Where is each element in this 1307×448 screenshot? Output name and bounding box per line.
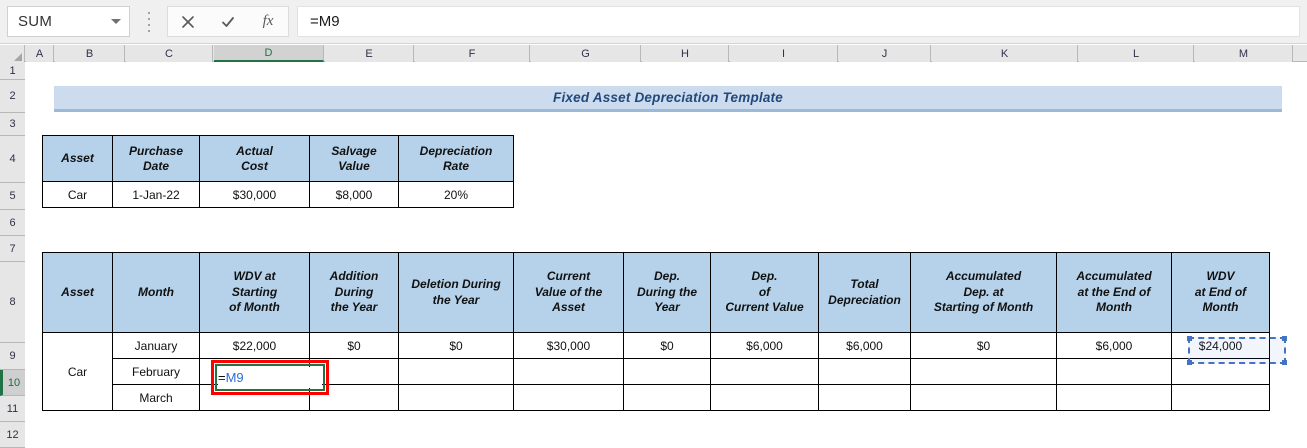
cell-salvage-value[interactable]: $8,000 <box>310 182 399 208</box>
cell-addition[interactable]: $0 <box>310 333 399 359</box>
row-header-11[interactable]: 11 <box>0 396 25 422</box>
formula-bar: SUM fx =M9 <box>0 0 1307 44</box>
row-header-5[interactable]: 5 <box>0 183 25 210</box>
cell-depreciation-rate[interactable]: 20% <box>399 182 514 208</box>
header-month: Month <box>113 253 200 333</box>
cell-dep-of-current-value[interactable] <box>711 359 819 385</box>
table-row: Car 1-Jan-22 $30,000 $8,000 20% <box>43 182 514 208</box>
spreadsheet-grid[interactable]: Fixed Asset Depreciation Template exceld… <box>26 62 1307 434</box>
asset-summary-table: Asset Purchase Date Actual Cost Salvage … <box>42 135 514 208</box>
template-title-banner: Fixed Asset Depreciation Template <box>54 86 1282 112</box>
header-asset: Asset <box>43 136 113 182</box>
header-total-depreciation: Total Depreciation <box>819 253 911 333</box>
cell-current-value[interactable] <box>514 359 624 385</box>
cell-dep-during-year[interactable] <box>624 359 711 385</box>
column-header-row: A B C D E F G H I J K L M <box>0 45 1307 62</box>
row-header-10[interactable]: 10 <box>0 370 25 396</box>
cell-asset-merged[interactable]: Car <box>43 333 113 411</box>
column-header-c[interactable]: C <box>126 45 213 62</box>
header-wdv-at-starting-of-month: WDV at Starting of Month <box>200 253 310 333</box>
cell-wdv-end[interactable] <box>1172 359 1270 385</box>
column-header-f[interactable]: F <box>415 45 530 62</box>
cell-deletion[interactable] <box>399 359 514 385</box>
column-header-g[interactable]: G <box>531 45 641 62</box>
cell-month[interactable]: March <box>113 385 200 411</box>
header-asset: Asset <box>43 253 113 333</box>
table-header-row: Asset Purchase Date Actual Cost Salvage … <box>43 136 514 182</box>
row-header-12[interactable]: 12 <box>0 422 25 448</box>
column-header-k[interactable]: K <box>932 45 1078 62</box>
cell-accum-dep-start[interactable] <box>911 385 1057 411</box>
column-header-b[interactable]: B <box>55 45 125 62</box>
insert-function-fx-icon[interactable]: fx <box>248 7 288 36</box>
row-header-2[interactable]: 2 <box>0 80 25 113</box>
cell-addition[interactable] <box>310 359 399 385</box>
selection-handle-top-right[interactable] <box>1282 336 1287 341</box>
header-dep-during-the-year: Dep. During the Year <box>624 253 711 333</box>
formula-reference-m9: M9 <box>226 370 244 385</box>
row-header-9[interactable]: 9 <box>0 343 25 370</box>
cell-actual-cost[interactable]: $30,000 <box>200 182 310 208</box>
column-header-h[interactable]: H <box>642 45 729 62</box>
formula-equals-sign: = <box>218 370 226 385</box>
cell-accum-dep-start[interactable] <box>911 359 1057 385</box>
row-header-7[interactable]: 7 <box>0 236 25 262</box>
cancel-x-icon[interactable] <box>168 7 208 36</box>
table-header-row: Asset Month WDV at Starting of Month Add… <box>43 253 1270 333</box>
column-header-e[interactable]: E <box>325 45 414 62</box>
cell-accum-end[interactable]: $6,000 <box>1057 333 1172 359</box>
cell-addition[interactable] <box>310 385 399 411</box>
table-row: March <box>43 385 1270 411</box>
cell-total-depreciation[interactable] <box>819 385 911 411</box>
select-all-triangle-icon <box>14 53 22 61</box>
column-header-j[interactable]: J <box>839 45 931 62</box>
row-header-1[interactable]: 1 <box>0 62 25 80</box>
confirm-check-icon[interactable] <box>208 7 248 36</box>
formula-bar-drag-handle[interactable] <box>146 12 151 32</box>
cell-month[interactable]: February <box>113 359 200 385</box>
cell-accum-dep-start[interactable]: $0 <box>911 333 1057 359</box>
column-header-l[interactable]: L <box>1079 45 1194 62</box>
header-addition-during-the-year: Addition During the Year <box>310 253 399 333</box>
header-deletion-during-the-year: Deletion During the Year <box>399 253 514 333</box>
row-header-column: 1 2 3 4 5 6 7 8 9 10 11 12 <box>0 62 25 434</box>
cell-month[interactable]: January <box>113 333 200 359</box>
row-header-8[interactable]: 8 <box>0 262 25 343</box>
chevron-down-icon[interactable] <box>111 19 121 24</box>
cell-wdv-start[interactable]: $22,000 <box>200 333 310 359</box>
cell-total-depreciation[interactable]: $6,000 <box>819 333 911 359</box>
cell-current-value[interactable] <box>514 385 624 411</box>
table-row: Car January $22,000 $0 $0 $30,000 $0 $6,… <box>43 333 1270 359</box>
header-actual-cost: Actual Cost <box>200 136 310 182</box>
header-purchase-date: Purchase Date <box>113 136 200 182</box>
header-accumulated-dep-at-starting-of-month: Accumulated Dep. at Starting of Month <box>911 253 1057 333</box>
cell-deletion[interactable] <box>399 385 514 411</box>
cell-asset[interactable]: Car <box>43 182 113 208</box>
column-header-i[interactable]: I <box>730 45 838 62</box>
header-accumulated-at-the-end-of-month: Accumulated at the End of Month <box>1057 253 1172 333</box>
name-box-value: SUM <box>18 13 111 30</box>
cell-current-value[interactable]: $30,000 <box>514 333 624 359</box>
cell-accum-end[interactable] <box>1057 385 1172 411</box>
header-current-value-of-the-asset: Current Value of the Asset <box>514 253 624 333</box>
cell-dep-during-year[interactable] <box>624 385 711 411</box>
active-cell-editor[interactable]: =M9 <box>218 367 322 388</box>
selection-handle-bottom-right[interactable] <box>1282 360 1287 365</box>
cell-dep-of-current-value[interactable]: $6,000 <box>711 333 819 359</box>
cell-wdv-end[interactable]: $24,000 <box>1172 333 1270 359</box>
select-all-corner[interactable] <box>0 45 25 62</box>
cell-accum-end[interactable] <box>1057 359 1172 385</box>
header-dep-of-current-value: Dep. of Current Value <box>711 253 819 333</box>
row-header-4[interactable]: 4 <box>0 136 25 183</box>
column-header-m[interactable]: M <box>1195 45 1293 62</box>
cell-dep-during-year[interactable]: $0 <box>624 333 711 359</box>
header-wdv-at-end-of-month: WDV at End of Month <box>1172 253 1270 333</box>
header-salvage-value: Salvage Value <box>310 136 399 182</box>
column-header-a[interactable]: A <box>26 45 54 62</box>
formula-input[interactable]: =M9 <box>297 6 1300 37</box>
formula-input-value: =M9 <box>310 13 340 30</box>
name-box[interactable]: SUM <box>7 6 130 37</box>
cell-total-depreciation[interactable] <box>819 359 911 385</box>
row-header-3[interactable]: 3 <box>0 113 25 136</box>
cell-wdv-start[interactable] <box>200 385 310 411</box>
column-header-d[interactable]: D <box>214 45 324 62</box>
formula-bar-buttons: fx <box>167 6 289 37</box>
cell-dep-of-current-value[interactable] <box>711 385 819 411</box>
row-header-6[interactable]: 6 <box>0 210 25 236</box>
cell-purchase-date[interactable]: 1-Jan-22 <box>113 182 200 208</box>
cell-deletion[interactable]: $0 <box>399 333 514 359</box>
header-depreciation-rate: Depreciation Rate <box>399 136 514 182</box>
page-title: Fixed Asset Depreciation Template <box>553 90 783 105</box>
cell-wdv-end[interactable] <box>1172 385 1270 411</box>
